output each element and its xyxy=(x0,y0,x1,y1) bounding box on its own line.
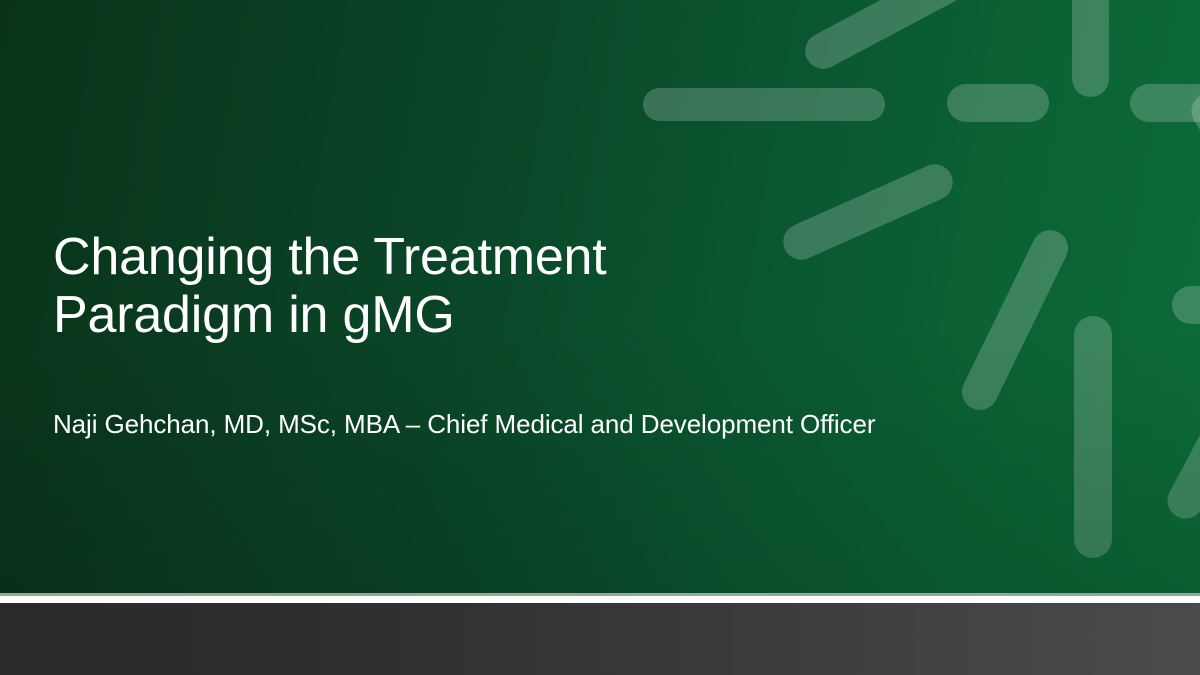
spark-bar-vertical-top-icon xyxy=(1072,0,1109,97)
slide-background: Changing the Treatment Paradigm in gMG N… xyxy=(0,0,1200,593)
spark-bar-diagonal-upper-icon xyxy=(799,0,1001,75)
spark-bar-vertical-bottom-icon xyxy=(1074,316,1112,558)
slide-title: Changing the Treatment Paradigm in gMG xyxy=(53,228,973,344)
spark-bar-horizontal-left-icon xyxy=(643,88,885,121)
footer-white-band xyxy=(0,596,1200,603)
spark-bar-diagonal-lower-icon xyxy=(956,224,1074,416)
spark-bar-edge-horizontal-icon xyxy=(1172,286,1200,324)
spark-bar-horizontal-right-icon xyxy=(1130,84,1200,122)
spark-bar-horizontal-mid-icon xyxy=(947,84,1049,122)
slide-subtitle-presenter: Naji Gehchan, MD, MSc, MBA – Chief Medic… xyxy=(53,344,973,441)
slide-text-block: Changing the Treatment Paradigm in gMG N… xyxy=(53,228,973,441)
title-slide: Changing the Treatment Paradigm in gMG N… xyxy=(0,0,1200,675)
spark-bar-edge-diagonal-down-icon xyxy=(1161,335,1200,525)
footer-gray-band xyxy=(0,603,1200,675)
